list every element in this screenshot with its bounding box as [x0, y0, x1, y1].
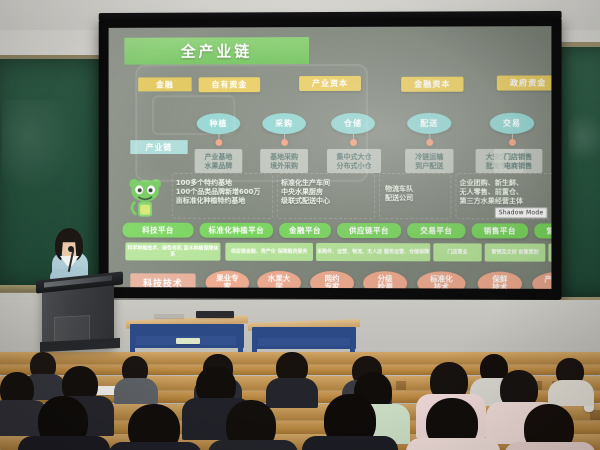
bench-slot-3	[396, 381, 406, 390]
blackboard-left	[0, 55, 104, 293]
chain-sub-6-line1: 门店销售	[504, 152, 532, 160]
detail-2-line2: 中央水果厨房	[281, 188, 330, 197]
detail-1-line2: 100个品类品牌新增600万	[176, 188, 261, 197]
mascot-icon	[124, 177, 166, 221]
tech-node-6: 保鲜 技术	[478, 272, 522, 289]
platform-sub-6: 品牌营销 会员营销	[548, 244, 551, 262]
shadow-mode-badge: Shadow Mode	[495, 207, 548, 218]
tech-3-line2: 专家	[325, 283, 340, 289]
platform-sub-2: 供应链金融、资产化 保障融资服务	[225, 243, 313, 261]
chain-node-4: 配送	[407, 113, 451, 134]
detail-block-3: 物流车队 配送公司	[385, 185, 413, 203]
platform-2: 标准化种植平台	[200, 223, 274, 238]
platform-sub-3: 采购件、运营、物流、无人店 服务运营、仓储保障	[316, 243, 430, 261]
chain-sub-4-line2: 到户配送	[415, 162, 443, 170]
detail-4-line2: 无人零售、前置仓、	[459, 188, 523, 197]
chain-sub-4: 冷链运输 到户配送	[405, 149, 453, 173]
detail-3-line2: 配送公司	[385, 194, 413, 203]
connector-dot-4	[426, 139, 433, 146]
capital-box-3: 金融资本	[401, 77, 463, 92]
capital-box-4: 政府资金	[497, 75, 552, 90]
presentation-slide: 全产业链 金融 产业链 科技技术 自有资金 产业资本 金融资本 政府资金 种植 …	[109, 26, 552, 289]
microphone-head	[68, 246, 74, 252]
platform-7: 营销服务平台	[534, 223, 551, 238]
tech-4-line2: 检测	[378, 283, 393, 289]
projection-screen: 全产业链 金融 产业链 科技技术 自有资金 产业资本 金融资本 政府资金 种植 …	[109, 26, 552, 289]
blackboard-right	[555, 42, 600, 302]
tech-6-line2: 技术	[492, 284, 507, 289]
tech-node-7: 产品测溯 技术	[532, 272, 551, 289]
platform-4: 供应链平台	[337, 223, 401, 238]
platform-5: 交易平台	[407, 223, 465, 238]
projection-screen-frame: 全产业链 金融 产业链 科技技术 自有资金 产业资本 金融资本 政府资金 种植 …	[99, 17, 562, 300]
detail-3-line1: 物流车队	[385, 185, 413, 194]
tech-node-1: 果业专 家	[206, 271, 250, 289]
tech-node-5: 标准化 技术	[417, 271, 465, 289]
detail-block-2: 标准化生产车间 中央水果厨房 级联式配送中心	[281, 179, 330, 206]
tech-node-3: 网约 专家	[310, 271, 354, 289]
desk-shelf-2	[258, 338, 350, 346]
desk-clutter-1	[154, 314, 184, 318]
chain-sub-4-line1: 冷链运输	[415, 152, 443, 160]
detail-4-line3: 第三方水果经营主体	[459, 197, 523, 206]
platform-sub-5: 营销及文创 创意策划	[485, 243, 546, 261]
tech-7-line1: 产品测溯	[544, 275, 551, 284]
tech-5-line2: 技术	[434, 283, 449, 288]
desk-item-1	[176, 338, 200, 344]
platform-3: 金融平台	[279, 223, 331, 238]
detail-block-4: 企业团购、新生鲜、 无人零售、前置仓、 第三方水果经营主体	[459, 179, 523, 206]
chain-sub-6: 门店销售 电商销售	[494, 149, 543, 173]
chain-node-5: 交易	[490, 113, 534, 134]
platform-sub-4: 门店营业	[433, 243, 481, 261]
detail-4-line1: 企业团购、新生鲜、	[459, 179, 523, 188]
platform-sub-1: 科学种植技术、绿色有机 苗木种植保障体系	[125, 242, 220, 260]
desk-clutter-2	[196, 311, 234, 318]
row-label-technology: 科技技术	[130, 273, 195, 289]
screen-ghost-reflection-2	[152, 95, 235, 135]
tech-node-2: 水果大 学	[257, 271, 301, 289]
tech-node-4: 分级 检测	[363, 271, 407, 289]
slide-title: 全产业链	[124, 37, 309, 65]
tech-2-line2: 学	[275, 283, 282, 289]
platform-1: 科技平台	[122, 223, 193, 238]
detail-1-line3: 亩标准化种植特约基地	[176, 197, 261, 206]
classroom-scene: 全产业链 金融 产业链 科技技术 自有资金 产业资本 金融资本 政府资金 种植 …	[0, 0, 600, 450]
tech-1-line2: 家	[224, 283, 231, 289]
detail-2-line3: 级联式配送中心	[281, 197, 330, 206]
platform-6: 销售平台	[472, 223, 529, 238]
chain-sub-6-line2: 电商销售	[504, 162, 532, 170]
connector-dot-5	[509, 139, 516, 146]
detail-block-1: 100多个特约基地 100个品类品牌新增600万 亩标准化种植特约基地	[176, 179, 261, 206]
